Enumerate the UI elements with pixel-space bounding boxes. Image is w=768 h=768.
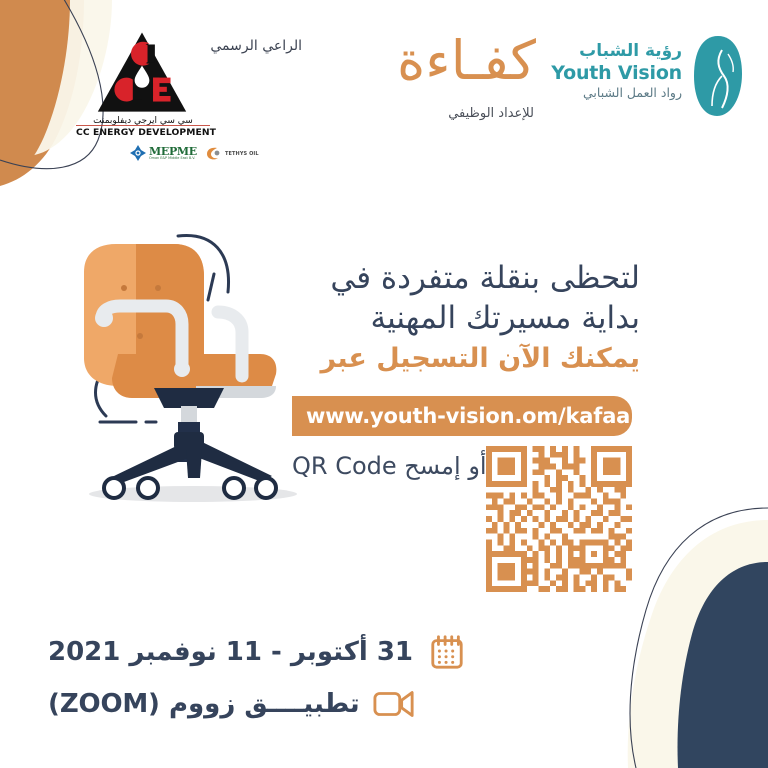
partner-logos: MEPME Oman E&P Middle East B.V. TETHYS O…: [68, 142, 248, 168]
event-date-row: 31 أكتوبر - 11 نوفمبر 2021: [48, 626, 468, 678]
kafaa-subtitle: للإعداد الوظيفي: [448, 107, 534, 120]
chair-base-hub: [174, 432, 204, 450]
url-bar[interactable]: www.youth-vision.om/kafaa: [292, 396, 632, 436]
youth-vision-text: رؤية الشباب Youth Vision رواد العمل الشب…: [548, 37, 682, 115]
chair-armrest-left-joint: [174, 361, 190, 377]
bottom-right-thin-curve: [630, 508, 768, 768]
chair-accent-dash-1: [208, 274, 214, 300]
video-camera-icon: [372, 683, 416, 725]
chair-base-leg-center: [186, 450, 202, 478]
qr-code-image: [486, 446, 632, 592]
chair-caster-4: [256, 478, 276, 498]
main-copy: لتحظى بنقلة متفردة في بداية مسيرتك المهن…: [280, 258, 640, 374]
tethys-name: TETHYS OIL: [225, 151, 259, 157]
top-left-orange-blob-overlay: [0, 0, 70, 184]
sponsor-company-english: CC ENERGY DEVELOPMENT: [76, 127, 210, 138]
sponsor-label: الراعي الرسمي: [210, 38, 302, 54]
bottom-right-cream-blob: [628, 520, 768, 768]
kafaa-logo: كفـاءة للإعداد الوظيفي: [410, 30, 538, 122]
url-text: www.youth-vision.om/kafaa: [306, 404, 630, 428]
mepme-logo: MEPME Oman E&P Middle East B.V.: [130, 142, 197, 164]
chair-caster-1: [104, 478, 124, 498]
cc-triangle-logo: [96, 30, 188, 116]
registration-subline: يمكنك الآن التسجيل عبر: [280, 343, 640, 375]
kafaa-wordmark: كفـاءة: [397, 34, 536, 88]
event-platform-row: تطبيــــق زووم (ZOOM): [48, 678, 468, 730]
qr-prompt: أو إمسح QR Code: [292, 446, 492, 486]
event-date-text: 31 أكتوبر - 11 نوفمبر 2021: [48, 637, 413, 667]
qr-code[interactable]: [486, 446, 632, 592]
bottom-right-navy-blob: [678, 562, 768, 768]
youth-vision-english-title: Youth Vision: [551, 64, 682, 83]
chair-button-2: [155, 285, 161, 291]
youth-vision-arabic-title: رؤية الشباب: [579, 43, 682, 60]
youth-vision-tagline: رواد العمل الشبابي: [583, 87, 682, 100]
poster-canvas: الراعي الرسمي سي سي ايرجي ديفلوبمنت CC E…: [0, 0, 768, 768]
calendar-icon: [425, 631, 469, 673]
mepme-mark-icon: [130, 145, 146, 161]
oman-map-mark-icon: [692, 34, 744, 118]
chair-tilt-plate: [154, 388, 224, 408]
chair-button-3: [137, 333, 143, 339]
tethys-oil-logo: TETHYS OIL: [206, 143, 259, 165]
chair-button-1: [121, 285, 127, 291]
event-info: 31 أكتوبر - 11 نوفمبر 2021 تطبيــــق زوو…: [48, 626, 468, 730]
tethys-mark-icon: [206, 147, 222, 161]
chair-caster-2: [138, 478, 158, 498]
headline-line-1: لتحظى بنقلة متفردة في: [280, 258, 640, 298]
sponsor-divider: [76, 125, 210, 126]
sponsor-block: الراعي الرسمي سي سي ايرجي ديفلوبمنت CC E…: [62, 26, 302, 150]
mepme-subtitle: Oman E&P Middle East B.V.: [149, 157, 197, 160]
chair-caster-3: [224, 478, 244, 498]
headline-line-2: بداية مسيرتك المهنية: [280, 298, 640, 338]
event-platform-text: تطبيــــق زووم (ZOOM): [48, 689, 360, 719]
brand-lockup: كفـاءة للإعداد الوظيفي رؤية الشباب Youth…: [410, 24, 744, 128]
